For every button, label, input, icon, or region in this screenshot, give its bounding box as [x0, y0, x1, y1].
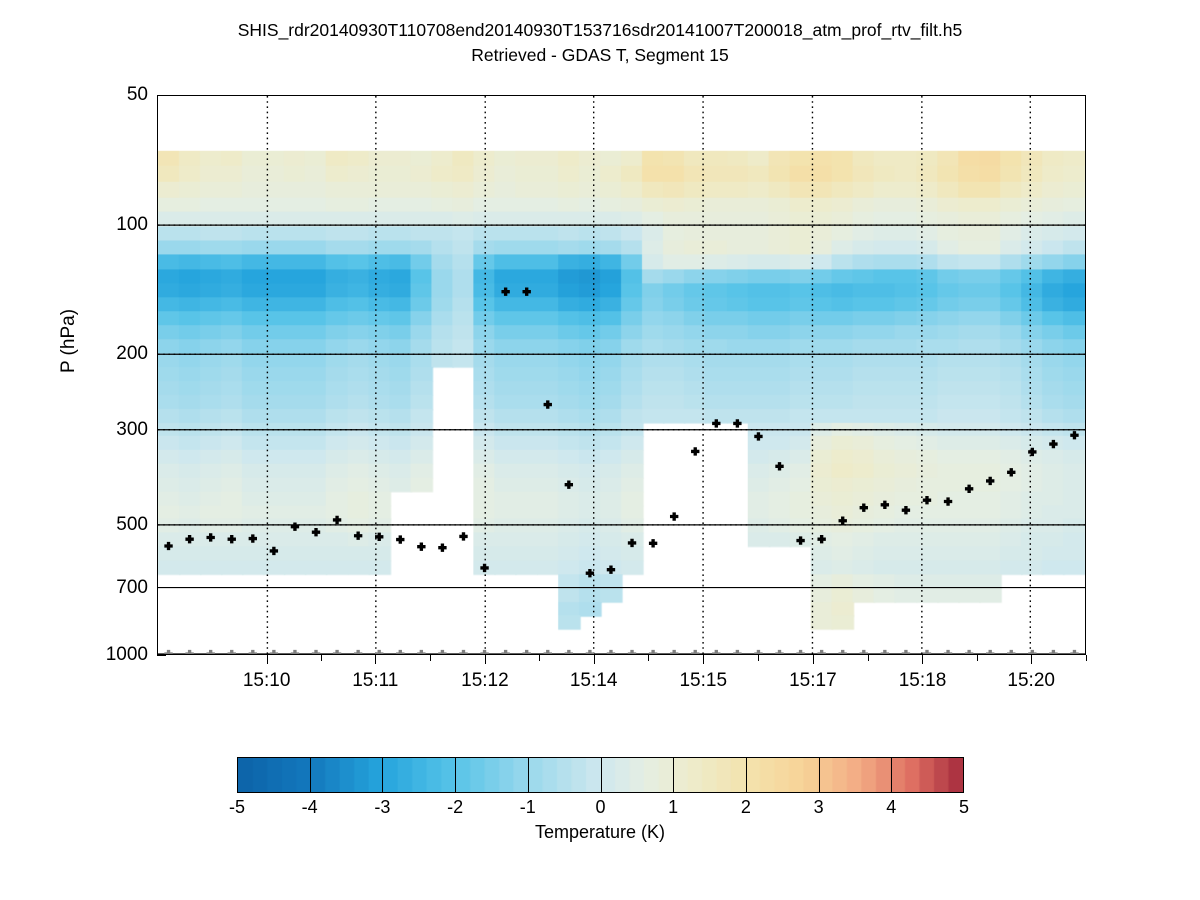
- colorbar-tick-label: 5: [959, 797, 969, 818]
- x-tick-mark: [1031, 655, 1032, 664]
- colorbar-tick-label: -3: [374, 797, 390, 818]
- x-tick-label: 15:20: [1007, 670, 1055, 692]
- figure-title-subtitle: Retrieved - GDAS T, Segment 15: [0, 42, 1200, 68]
- colorbar-tick-label: 3: [814, 797, 824, 818]
- colorbar-tick-label: -5: [229, 797, 245, 818]
- title-block: SHIS_rdr20140930T110708end20140930T15371…: [0, 18, 1200, 68]
- colorbar-tick-label: 1: [668, 797, 678, 818]
- x-tick-mark: [375, 655, 376, 664]
- colorbar-gradient: [237, 757, 964, 793]
- x-tick-mark: [922, 655, 923, 664]
- y-tick-label: 700: [116, 577, 148, 599]
- x-tick-label-group: 15:1015:1115:1215:1415:1515:1715:1815:20: [0, 670, 1200, 698]
- y-tick-label: 500: [116, 514, 148, 536]
- x-tick-mark-minor: [648, 655, 649, 661]
- colorbar-tick-label: -4: [302, 797, 318, 818]
- x-tick-label: 15:14: [570, 670, 618, 692]
- colorbar-tick-label: 2: [741, 797, 751, 818]
- x-tick-mark-minor: [539, 655, 540, 661]
- x-tick-label: 15:15: [679, 670, 727, 692]
- y-tick-label: 1000: [106, 644, 148, 666]
- colorbar[interactable]: [237, 757, 964, 793]
- x-tick-label: 15:11: [352, 670, 398, 692]
- x-tick-mark: [703, 655, 704, 664]
- y-tick-label-group: 501002003005007001000: [60, 95, 148, 655]
- x-tick-label: 15:12: [461, 670, 509, 692]
- x-tick-mark-minor: [868, 655, 869, 661]
- x-tick-mark: [813, 655, 814, 664]
- x-tick-mark-minor: [1086, 655, 1087, 661]
- colorbar-tick-label-group: -5-4-3-2-1012345: [237, 797, 964, 821]
- heatmap-plot-area[interactable]: [157, 95, 1086, 655]
- x-tick-label: 15:10: [243, 670, 291, 692]
- colorbar-tick-label: 0: [595, 797, 605, 818]
- colorbar-axis-title: Temperature (K): [0, 822, 1200, 843]
- x-tick-mark-minor: [977, 655, 978, 661]
- y-tick-label: 300: [116, 419, 148, 441]
- x-tick-mark: [594, 655, 595, 664]
- x-tick-mark: [485, 655, 486, 664]
- y-tick-label: 200: [116, 343, 148, 365]
- x-tick-mark: [267, 655, 268, 664]
- y-tick-label: 50: [127, 84, 148, 106]
- x-tick-label: 15:18: [899, 670, 947, 692]
- x-tick-mark-minor: [321, 655, 322, 661]
- colorbar-tick-label: -1: [520, 797, 536, 818]
- y-tick-label: 100: [116, 214, 148, 236]
- colorbar-tick-label: 4: [886, 797, 896, 818]
- x-tick-mark-minor: [430, 655, 431, 661]
- x-tick-label: 15:17: [789, 670, 837, 692]
- x-tick-mark-minor: [758, 655, 759, 661]
- colorbar-tick-label: -2: [447, 797, 463, 818]
- figure-root: SHIS_rdr20140930T110708end20140930T15371…: [0, 0, 1200, 900]
- heatmap-canvas: [158, 96, 1085, 654]
- y-tick-mark: [157, 655, 166, 656]
- figure-title-filename: SHIS_rdr20140930T110708end20140930T15371…: [0, 18, 1200, 42]
